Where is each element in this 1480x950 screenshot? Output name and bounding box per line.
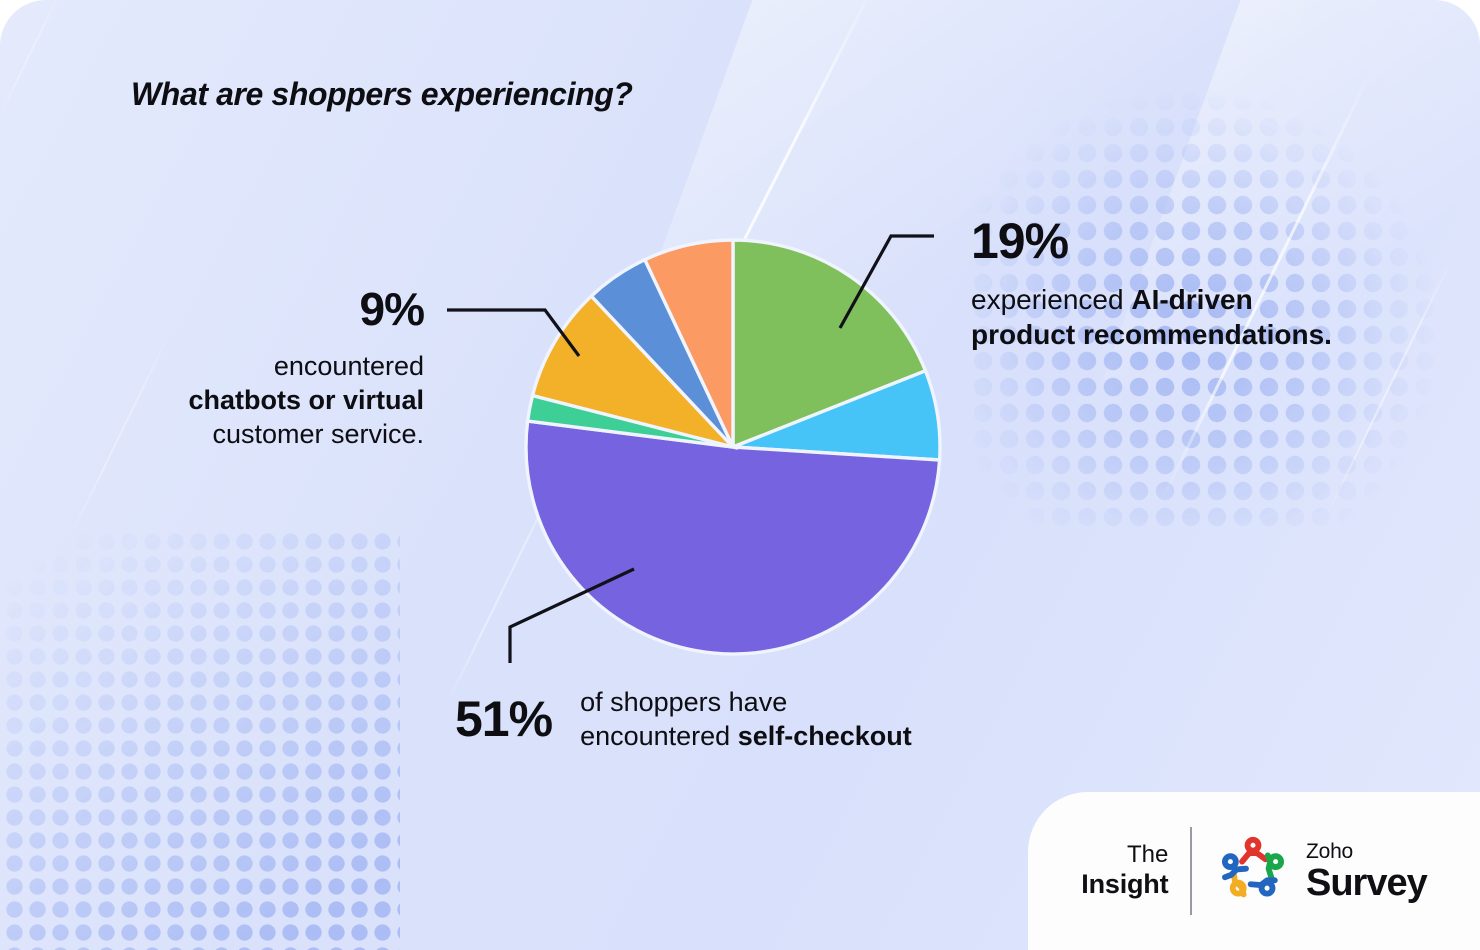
callout-chatbots-line3: customer service. [212, 419, 424, 449]
zoho-people-icon [1214, 832, 1292, 910]
pie-chart-svg [523, 237, 943, 657]
brand-survey: Survey [1306, 864, 1427, 902]
infographic-card: What are shoppers experiencing? 19% expe… [0, 0, 1480, 950]
brand-zoho: Zoho [1306, 841, 1427, 862]
diagonal-streak-6 [0, 0, 62, 117]
the-insight-logo: The Insight [1081, 842, 1168, 899]
callout-selfcheckout-percent: 51% [455, 694, 552, 744]
callout-chatbots-description: encountered chatbots or virtual customer… [112, 349, 424, 451]
callout-ai-recommendations: 19% experienced AI-driven product recomm… [971, 216, 1451, 353]
halftone-dots-bottom-left [0, 530, 400, 950]
zoho-survey-wordmark: Zoho Survey [1306, 841, 1427, 902]
callout-selfcheckout: 51% of shoppers have encountered self-ch… [455, 685, 912, 753]
callout-chatbots-line2: chatbots or virtual [188, 385, 424, 415]
footer-branding: The Insight [1028, 792, 1480, 950]
callout-selfcheckout-line2-bold: self-checkout [738, 721, 912, 751]
pie-slice [526, 421, 940, 654]
callout-ai-text-bold-1: AI-driven [1131, 284, 1252, 315]
footer-divider [1190, 827, 1192, 915]
page-title: What are shoppers experiencing? [131, 76, 633, 113]
the-insight-insight: Insight [1081, 869, 1168, 899]
callout-chatbots-line1: encountered [274, 351, 424, 381]
callout-chatbots-percent: 9% [112, 286, 424, 332]
callout-ai-text-bold-2: product recommendations. [971, 319, 1332, 350]
zoho-survey-logo: Zoho Survey [1214, 832, 1427, 910]
the-insight-the: The [1081, 842, 1168, 869]
callout-selfcheckout-line1: of shoppers have [580, 687, 787, 717]
callout-selfcheckout-description: of shoppers have encountered self-checko… [580, 685, 912, 753]
pie-chart [523, 237, 943, 657]
callout-ai-description: experienced AI-driven product recommenda… [971, 282, 1451, 353]
callout-selfcheckout-line2-plain: encountered [580, 721, 738, 751]
callout-ai-percent: 19% [971, 216, 1451, 266]
callout-ai-text-plain: experienced [971, 284, 1131, 315]
infographic-canvas: What are shoppers experiencing? 19% expe… [0, 0, 1480, 950]
callout-chatbots: 9% encountered chatbots or virtual custo… [112, 286, 424, 451]
